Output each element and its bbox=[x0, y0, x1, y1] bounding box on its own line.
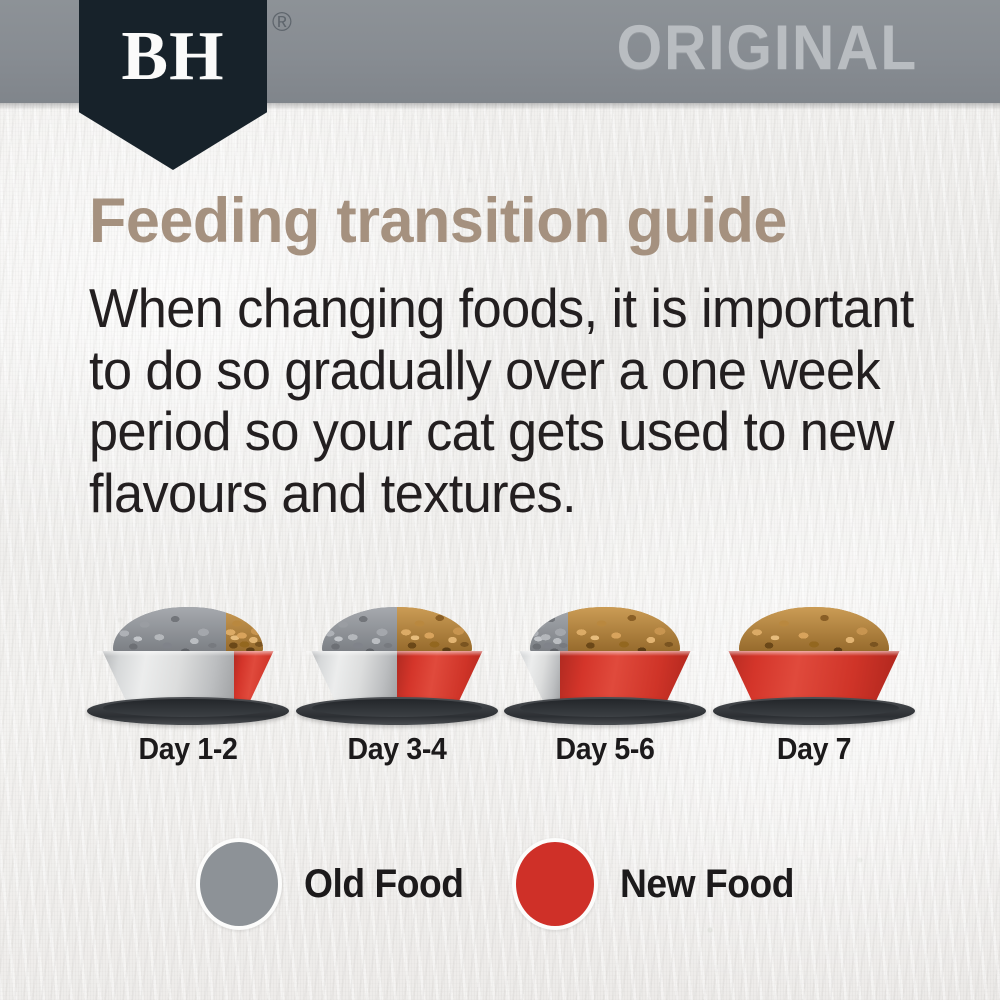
legend-item-new-food: New Food bbox=[512, 838, 807, 930]
bowl-day-7: Day 7 bbox=[709, 605, 919, 730]
legend-label-old-food: Old Food bbox=[304, 862, 464, 907]
legend-swatch-old-food-icon bbox=[196, 838, 282, 930]
bowl-day-5-6: Day 5-6 bbox=[500, 605, 710, 730]
product-variant-title: ORIGINAL bbox=[617, 17, 918, 80]
registered-trademark-icon: ® bbox=[272, 9, 292, 36]
body-paragraph: When changing foods, it is important to … bbox=[89, 278, 925, 524]
bowl-base-inner bbox=[729, 699, 899, 717]
legend-item-old-food: Old Food bbox=[196, 838, 476, 930]
brand-mark-text: BH bbox=[79, 22, 267, 92]
bowl-day-1-2: Day 1-2 bbox=[83, 605, 293, 730]
bowl-day-label: Day 1-2 bbox=[91, 731, 284, 767]
bowl-day-3-4: Day 3-4 bbox=[292, 605, 502, 730]
bowl-sequence: Day 1-2 Day 3-4 bbox=[0, 605, 1000, 730]
bowl-day-label: Day 3-4 bbox=[300, 731, 493, 767]
bowl-day-label: Day 5-6 bbox=[508, 731, 701, 767]
page-title: Feeding transition guide bbox=[89, 190, 923, 253]
bowl-base-inner bbox=[103, 699, 273, 717]
legend: Old Food New Food bbox=[0, 838, 1000, 933]
bowl-day-label: Day 7 bbox=[717, 731, 910, 767]
feeding-transition-guide-panel: BH ® ORIGINAL Feeding transition guide W… bbox=[0, 0, 1000, 1000]
legend-label-new-food: New Food bbox=[620, 862, 794, 907]
legend-swatch-new-food-icon bbox=[512, 838, 598, 930]
bowl-base-inner bbox=[312, 699, 482, 717]
bowl-base-inner bbox=[520, 699, 690, 717]
